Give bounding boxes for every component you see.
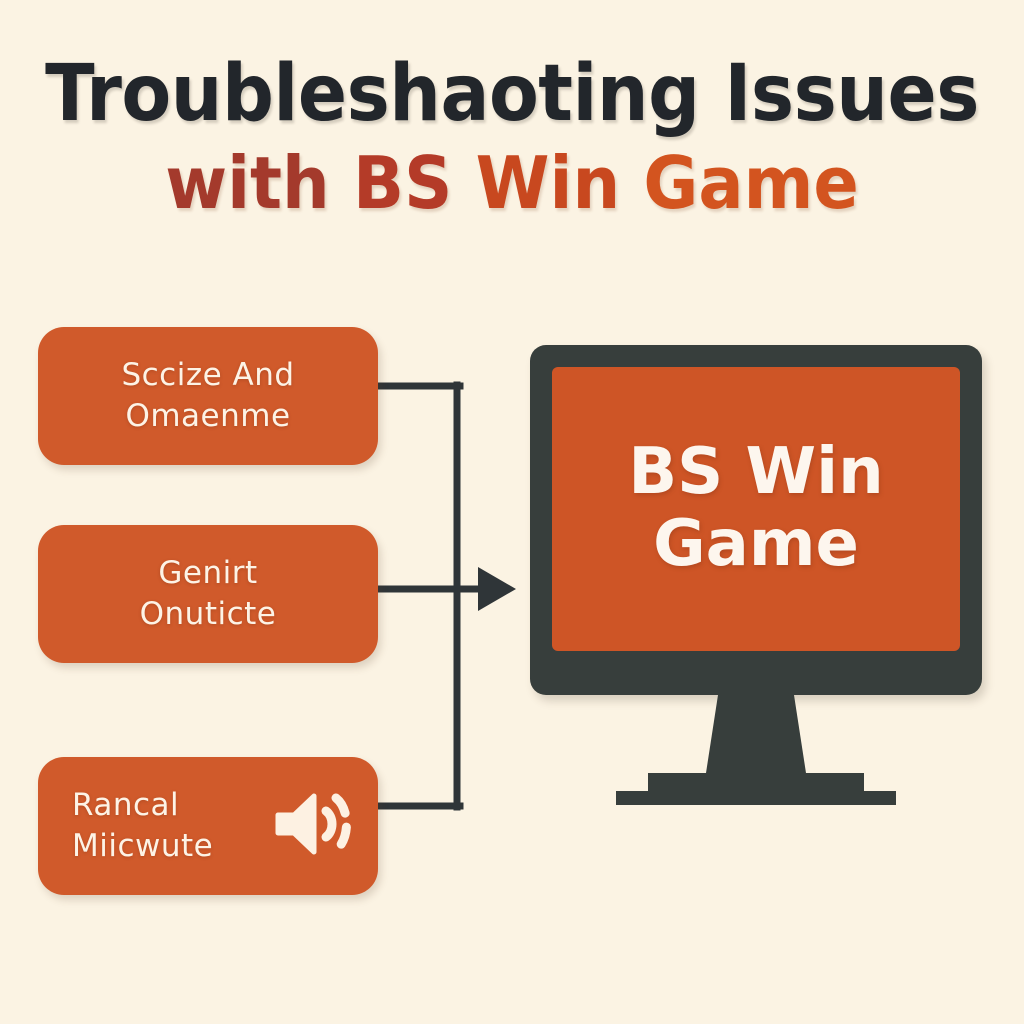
issue-card-1-label: Sccize And Omaenme — [121, 355, 294, 437]
monitor-screen[interactable]: BS Win Game — [552, 367, 960, 651]
monitor-screen-label: BS Win Game — [628, 437, 883, 580]
issue-card-2[interactable]: Genirt Onuticte — [38, 525, 378, 663]
monitor-stand-plinth — [648, 773, 864, 793]
monitor-stand-base — [616, 791, 896, 805]
speaker-volume-icon — [270, 787, 352, 865]
issue-card-3-line-1: Rancal — [72, 787, 179, 823]
monitor-bezel: BS Win Game — [530, 345, 982, 695]
issue-card-3-line-2: Miicwute — [72, 828, 213, 864]
title-word-with: with — [165, 141, 329, 225]
issue-card-2-line-1: Genirt — [158, 555, 257, 591]
title-word-win: Win — [476, 141, 620, 225]
monitor-screen-line-1: BS Win — [628, 435, 883, 509]
page-title-line-1: Troubleshaoting Issues — [36, 52, 988, 136]
monitor-stand-neck — [706, 695, 806, 773]
issue-card-3-label: Rancal Miicwute — [72, 785, 213, 867]
title-word-game: Game — [643, 141, 858, 225]
page-title-line-2: with BS Win Game — [36, 142, 988, 225]
monitor-stand — [530, 685, 982, 815]
issue-card-1-line-2: Omaenme — [125, 398, 290, 434]
title-block: Troubleshaoting Issues with BS Win Game — [0, 52, 1024, 225]
issue-card-3[interactable]: Rancal Miicwute — [38, 757, 378, 895]
issue-card-1[interactable]: Sccize And Omaenme — [38, 327, 378, 465]
infographic-canvas: Troubleshaoting Issues with BS Win Game … — [0, 0, 1024, 1024]
monitor-screen-line-2: Game — [653, 507, 859, 581]
issue-card-2-line-2: Onuticte — [140, 596, 277, 632]
title-word-bs: BS — [353, 141, 452, 225]
desktop-monitor-icon: BS Win Game — [530, 345, 982, 815]
issue-card-2-label: Genirt Onuticte — [140, 553, 277, 635]
issue-card-1-line-1: Sccize And — [121, 357, 294, 393]
arrow-right-icon — [478, 567, 516, 611]
